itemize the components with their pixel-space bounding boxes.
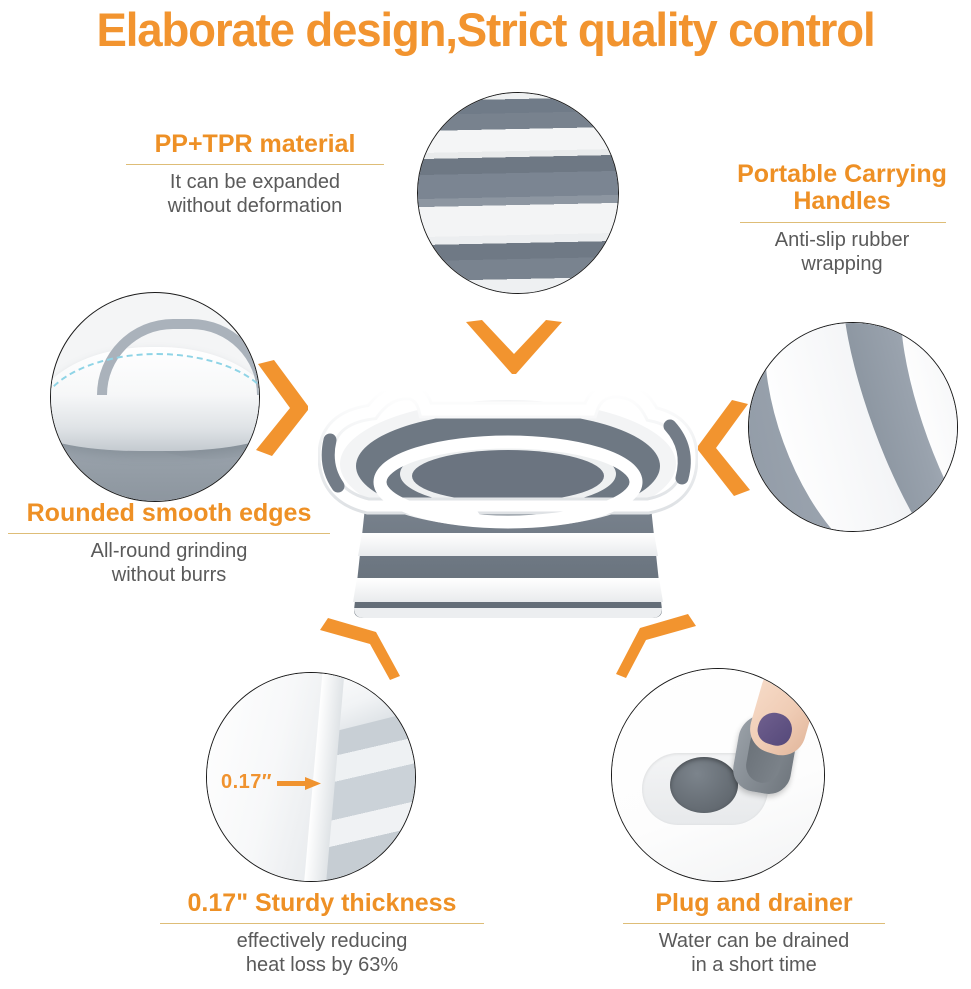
- feature-heading: Rounded smooth edges: [6, 500, 332, 527]
- heading-rule: [740, 222, 946, 223]
- heading-rule: [623, 923, 885, 924]
- plug-illustration: [612, 669, 824, 881]
- arrow-right-left-icon: [254, 358, 312, 458]
- arrow-up-right-bottom-icon: [606, 608, 702, 678]
- stripes-texture: [418, 93, 618, 293]
- heading-rule: [126, 164, 384, 165]
- heading-rule: [160, 923, 484, 924]
- thickness-callout-label: 0.17″: [221, 771, 272, 794]
- feature-subtext: Water can be drained in a short time: [604, 929, 904, 978]
- feature-plug-and-drainer: Plug and drainer Water can be drained in…: [604, 890, 904, 978]
- feature-heading: PP+TPR material: [116, 131, 394, 158]
- arrow-down-top-icon: [462, 318, 566, 376]
- page-title: Elaborate design,Strict quality control: [15, 2, 957, 57]
- feature-sturdy-thickness: 0.17" Sturdy thickness effectively reduc…: [148, 890, 496, 978]
- rim-illustration: [51, 293, 259, 501]
- feature-subtext: effectively reducing heat loss by 63%: [148, 929, 496, 978]
- thickness-cross-section-photo: 0.17″: [206, 672, 416, 882]
- drain-plug-photo: [611, 668, 825, 882]
- handle-closeup-photo: [748, 322, 958, 532]
- drain-hole: [670, 757, 738, 813]
- thickness-arrow-icon: [277, 777, 321, 790]
- stripes-closeup-photo: [417, 92, 619, 294]
- feature-rounded-smooth-edges: Rounded smooth edges All-round grinding …: [6, 500, 332, 588]
- handle-bands: [749, 323, 957, 531]
- feature-subtext: It can be expanded without deformation: [116, 170, 394, 219]
- feature-heading: Portable Carrying Handles: [716, 161, 968, 215]
- arrow-left-right-icon: [694, 398, 752, 498]
- feature-heading: Plug and drainer: [604, 890, 904, 917]
- infographic-page: Elaborate design,Strict quality control: [0, 0, 971, 989]
- collapsible-laundry-basket: [318, 378, 698, 628]
- feature-heading: 0.17" Sturdy thickness: [148, 890, 496, 917]
- feature-pp-tpr-material: PP+TPR material It can be expanded witho…: [116, 131, 394, 219]
- rim-edge-closeup-photo: [50, 292, 260, 502]
- feature-portable-carrying-handles: Portable Carrying Handles Anti-slip rubb…: [716, 161, 968, 277]
- heading-rule: [8, 533, 330, 534]
- thickness-illustration: 0.17″: [207, 673, 415, 881]
- feature-subtext: All-round grinding without burrs: [6, 539, 332, 588]
- arrow-up-left-bottom-icon: [314, 612, 410, 680]
- feature-subtext: Anti-slip rubber wrapping: [716, 228, 968, 277]
